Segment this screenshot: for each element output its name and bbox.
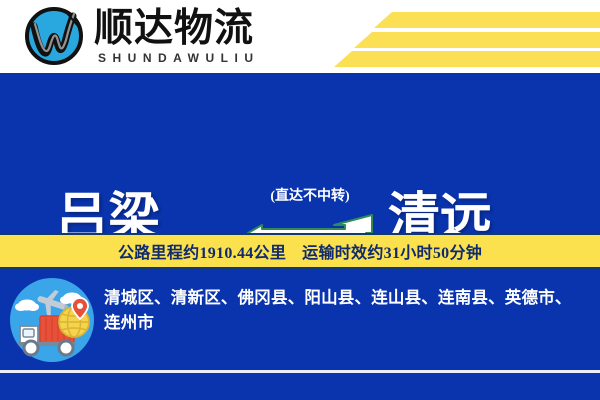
- header-bar: 顺达物流 SHUNDAWULIU: [0, 0, 600, 73]
- route-section: 吕梁 (直达不中转) 【往返运输】 清远: [0, 73, 600, 233]
- coverage-areas-text: 清城区、清新区、佛冈县、阳山县、连山县、连南县、英德市、连州市: [104, 269, 600, 335]
- direct-service-label: (直达不中转): [270, 188, 349, 206]
- truck-plane-globe-icon: [0, 269, 104, 365]
- brand-name-en: SHUNDAWULIU: [94, 51, 260, 65]
- duration-label: 运输时效约31小时50分钟: [302, 239, 482, 263]
- footer-bar: [0, 373, 600, 400]
- brand-logo[interactable]: 顺达物流 SHUNDAWULIU: [22, 4, 260, 68]
- logistics-route-banner: 顺达物流 SHUNDAWULIU 吕梁 (直达不中转) 【往返运输】 清远 公路…: [0, 0, 600, 400]
- coverage-section: 清城区、清新区、佛冈县、阳山县、连山县、连南县、英德市、连州市: [0, 269, 600, 371]
- route-info-bar: 公路里程约1910.44公里 运输时效约31小时50分钟: [0, 233, 600, 269]
- distance-label: 公路里程约1910.44公里: [118, 239, 286, 263]
- circle-w-swoosh-logo-icon: [22, 4, 86, 68]
- brand-name-cn: 顺达物流: [94, 7, 260, 51]
